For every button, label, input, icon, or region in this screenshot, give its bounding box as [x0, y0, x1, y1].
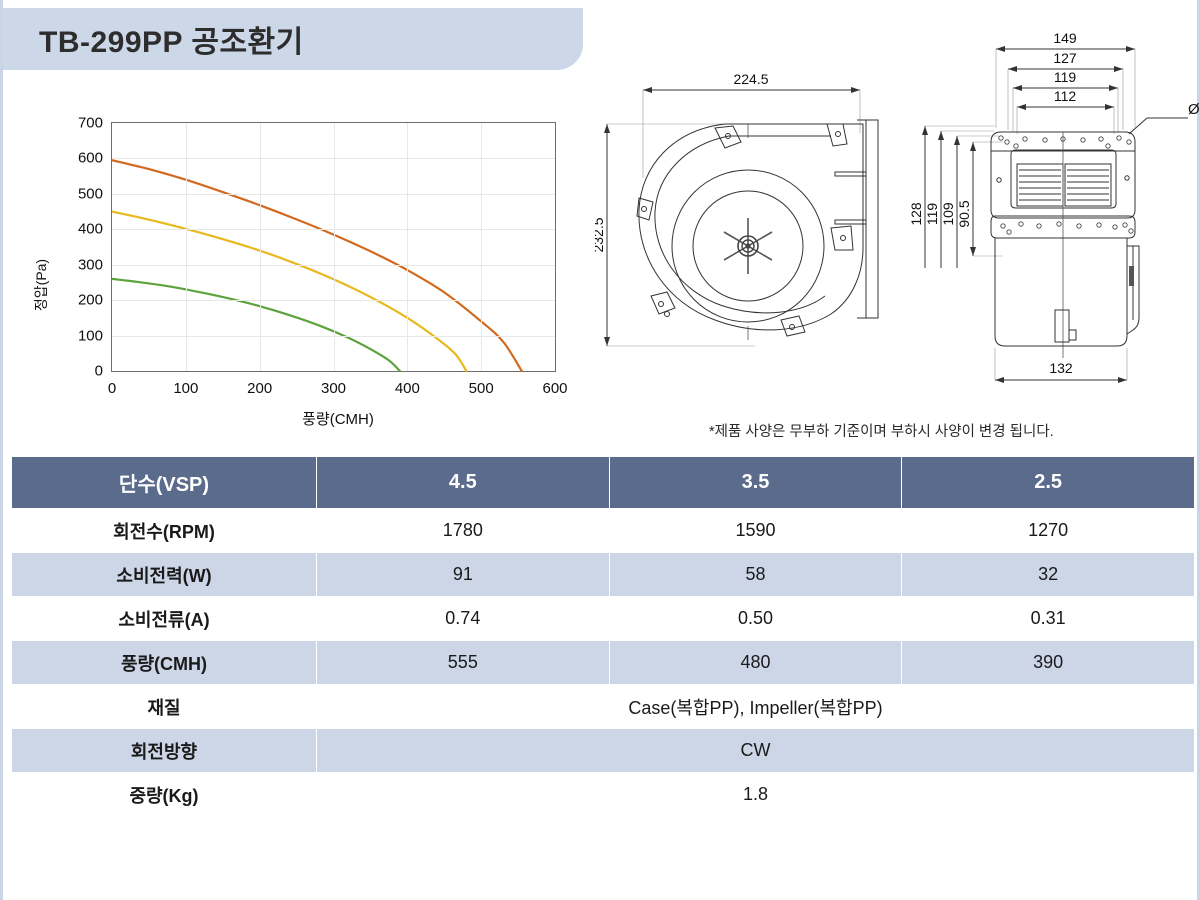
table-header-row: 단수(VSP) 4.5 3.5 2.5 — [12, 457, 1195, 509]
chart-y-axis-label: 정압(Pa) — [31, 259, 51, 311]
chart-gridline — [481, 123, 482, 371]
chart-y-tick-label: 100 — [78, 327, 112, 344]
table-row-label: 풍량(CMH) — [12, 641, 317, 685]
table-header-cell: 2.5 — [902, 457, 1195, 509]
chart-y-tick-label: 300 — [78, 256, 112, 273]
dimension-height-128 — [922, 126, 995, 268]
chart-y-tick-label: 400 — [78, 221, 112, 238]
chart-x-tick-label: 300 — [321, 371, 346, 397]
dimension-label-112: 112 — [1054, 88, 1077, 104]
table-row: 소비전력(W)915832 — [12, 553, 1195, 597]
chart-series-line-2 — [112, 279, 400, 371]
chart-y-tick-label: 600 — [78, 150, 112, 167]
chart-x-tick-label: 500 — [469, 371, 494, 397]
table-row: 재질Case(복합PP), Impeller(복합PP) — [12, 685, 1195, 729]
chart-gridline — [186, 123, 187, 371]
table-row: 풍량(CMH)555480390 — [12, 641, 1195, 685]
dimension-height-905 — [970, 142, 1003, 256]
table-cell: 1270 — [902, 509, 1195, 553]
table-cell: 0.74 — [317, 597, 610, 641]
table-row: 회전방향CW — [12, 729, 1195, 773]
table-cell: 390 — [902, 641, 1195, 685]
table-header-cell: 단수(VSP) — [12, 457, 317, 509]
chart-x-axis-label: 풍량(CMH) — [23, 408, 583, 429]
dimension-label-diameter: Ø3.3 — [1188, 101, 1200, 118]
table-row-label: 중량(Kg) — [12, 773, 317, 817]
table-cell: 0.31 — [902, 597, 1195, 641]
chart-y-tick-label: 500 — [78, 185, 112, 202]
chart-y-tick-label: 200 — [78, 292, 112, 309]
table-row: 소비전류(A)0.740.500.31 — [12, 597, 1195, 641]
table-row: 중량(Kg)1.8 — [12, 773, 1195, 817]
table-row-label: 소비전류(A) — [12, 597, 317, 641]
chart-x-tick-label: 200 — [247, 371, 272, 397]
chart-gridline — [407, 123, 408, 371]
table-cell: 0.50 — [609, 597, 902, 641]
table-cell: 58 — [609, 553, 902, 597]
table-header-cell: 3.5 — [609, 457, 902, 509]
spec-footnote: *제품 사양은 무부하 기준이며 부하시 사양이 변경 됩니다. — [709, 420, 1054, 441]
table-cell: 555 — [317, 641, 610, 685]
table-row-label: 회전방향 — [12, 729, 317, 773]
dimension-label-127: 127 — [1053, 50, 1077, 66]
dimension-label-119: 119 — [1054, 69, 1077, 85]
datasheet-page: TB-299PP 공조환기 정압(Pa) 0100200300400500600… — [0, 0, 1200, 900]
table-row-label: 소비전력(W) — [12, 553, 317, 597]
blower-side-view-drawing: 224.5 232.5 — [595, 58, 895, 393]
dimension-label-2325: 232.5 — [595, 217, 606, 252]
chart-x-tick-label: 400 — [395, 371, 420, 397]
table-row-label: 재질 — [12, 685, 317, 729]
chart-plot-area: 0100200300400500600700010020030040050060… — [111, 122, 556, 372]
dimension-label-132: 132 — [1049, 360, 1073, 376]
table-cell: 91 — [317, 553, 610, 597]
title-bar: TB-299PP 공조환기 — [3, 8, 583, 70]
chart-x-tick-label: 600 — [542, 371, 567, 397]
dimension-width-112 — [1017, 104, 1114, 134]
table-header-cell: 4.5 — [317, 457, 610, 509]
chart-y-tick-label: 700 — [78, 115, 112, 132]
dimension-label-905: 90.5 — [956, 200, 972, 227]
dimension-label-128: 128 — [908, 202, 924, 226]
dimension-label-149: 149 — [1053, 30, 1077, 46]
table-cell: 1780 — [317, 509, 610, 553]
specification-table: 단수(VSP) 4.5 3.5 2.5 회전수(RPM)178015901270… — [11, 456, 1195, 817]
dimension-hole-diameter — [1129, 118, 1188, 134]
dimension-height-119 — [938, 131, 995, 268]
page-title: TB-299PP 공조환기 — [39, 17, 304, 61]
chart-series-line-1 — [112, 212, 466, 371]
table-cell-merged: 1.8 — [317, 773, 1195, 817]
dimension-label-119v: 119 — [924, 203, 940, 226]
dimension-label-2245: 224.5 — [733, 71, 768, 87]
dimension-label-109: 109 — [940, 202, 956, 226]
table-row-label: 회전수(RPM) — [12, 509, 317, 553]
chart-gridline — [260, 123, 261, 371]
table-cell-merged: Case(복합PP), Impeller(복합PP) — [317, 685, 1195, 729]
table-row: 회전수(RPM)178015901270 — [12, 509, 1195, 553]
blower-front-view-drawing: 149 127 119 112 132 Ø3.3 128 119 109 90.… — [903, 18, 1200, 403]
chart-x-tick-label: 0 — [108, 371, 116, 397]
table-cell-merged: CW — [317, 729, 1195, 773]
table-cell: 480 — [609, 641, 902, 685]
table-cell: 1590 — [609, 509, 902, 553]
chart-x-tick-label: 100 — [173, 371, 198, 397]
table-cell: 32 — [902, 553, 1195, 597]
chart-gridline — [334, 123, 335, 371]
performance-chart: 정압(Pa) 010020030040050060070001002003004… — [23, 100, 583, 440]
